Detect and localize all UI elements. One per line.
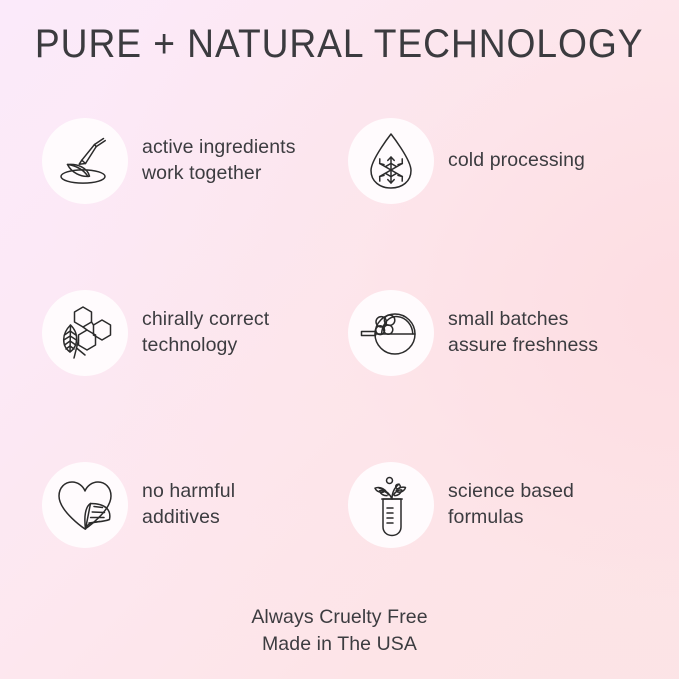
dropper-leaf-dish-icon	[54, 130, 116, 192]
feature-item-chirally-correct: chirally correct technology	[42, 290, 336, 376]
molecule-hexagons-leaf-icon	[54, 302, 116, 364]
feature-label: small batches assure freshness	[448, 307, 598, 358]
icon-badge	[42, 290, 128, 376]
footer-line-cruelty-free: Always Cruelty Free	[0, 604, 679, 630]
heart-leaf-icon	[54, 476, 116, 534]
feature-label: no harmful additives	[142, 479, 235, 530]
infographic-poster: PURE + NATURAL TECHNOLOGY activ	[0, 0, 679, 679]
feature-item-active-ingredients: active ingredients work together	[42, 118, 336, 204]
page-title-container: PURE + NATURAL TECHNOLOGY	[0, 22, 679, 66]
feature-label: cold processing	[448, 148, 585, 174]
footer-line-made-in-usa: Made in The USA	[0, 631, 679, 657]
feature-label: active ingredients work together	[142, 135, 296, 186]
feature-label: science based formulas	[448, 479, 574, 530]
feature-item-science-based: science based formulas	[348, 462, 642, 548]
icon-badge	[348, 290, 434, 376]
feature-item-no-harmful-additives: no harmful additives	[42, 462, 336, 548]
footer: Always Cruelty Free Made in The USA	[0, 604, 679, 657]
feature-item-small-batches: small batches assure freshness	[348, 290, 642, 376]
icon-badge	[348, 462, 434, 548]
droplet-snowflake-icon	[362, 130, 420, 192]
page-title: PURE + NATURAL TECHNOLOGY	[35, 22, 644, 66]
test-tube-plant-icon	[363, 473, 419, 537]
icon-badge	[42, 462, 128, 548]
icon-badge	[42, 118, 128, 204]
feature-item-cold-processing: cold processing	[348, 118, 642, 204]
mixing-bowl-icon	[359, 306, 423, 360]
feature-grid: active ingredients work together	[42, 118, 642, 548]
feature-label: chirally correct technology	[142, 307, 269, 358]
icon-badge	[348, 118, 434, 204]
